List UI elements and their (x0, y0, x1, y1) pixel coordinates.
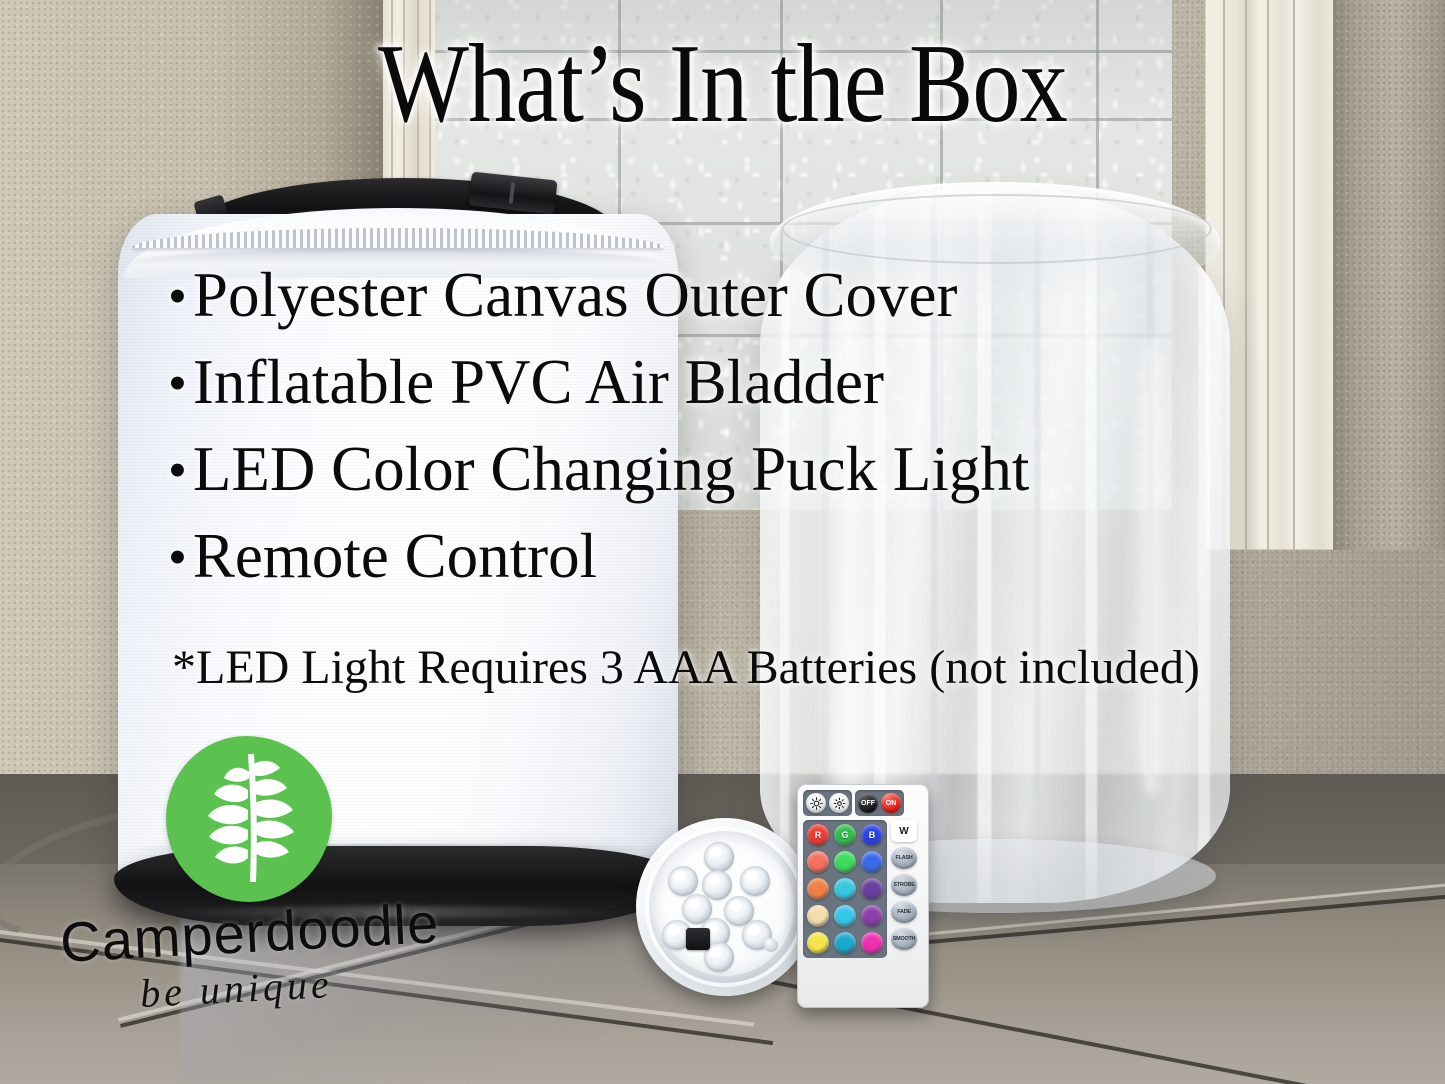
puck-face (656, 838, 794, 976)
list-item: Polyester Canvas Outer Cover (168, 252, 1208, 339)
fern-leaf-icon (166, 736, 332, 902)
brand-logo-mark (166, 736, 332, 902)
color-button[interactable] (807, 878, 829, 900)
stucco-wall-right (1333, 0, 1445, 550)
color-button[interactable] (834, 932, 856, 954)
color-button[interactable] (834, 878, 856, 900)
fade-button[interactable]: FADE (891, 901, 917, 923)
color-button[interactable] (834, 905, 856, 927)
ir-receiver-icon (686, 928, 710, 950)
power-on-button[interactable]: ON (881, 793, 901, 813)
list-item: LED Color Changing Puck Light (168, 426, 1208, 513)
remote-top-row: OFF ON (803, 790, 923, 816)
battery-footnote: *LED Light Requires 3 AAA Batteries (not… (172, 640, 1232, 695)
list-item: Remote Control (168, 513, 1208, 600)
color-button[interactable] (834, 851, 856, 873)
color-button[interactable] (861, 851, 883, 873)
white-button[interactable]: W (891, 820, 917, 842)
color-button[interactable] (807, 905, 829, 927)
color-button-g[interactable]: G (834, 824, 856, 846)
remote-brightness-pad (803, 790, 852, 816)
color-button-r[interactable]: R (807, 824, 829, 846)
brightness-down-icon[interactable] (829, 793, 849, 813)
smooth-button[interactable]: SMOOTH (891, 928, 917, 950)
product-hero-image: OFF ON R G B (0, 0, 1445, 1084)
color-button[interactable] (807, 932, 829, 954)
whats-in-the-box-list: Polyester Canvas Outer Cover Inflatable … (168, 252, 1208, 600)
color-button[interactable] (807, 851, 829, 873)
color-button[interactable] (861, 932, 883, 954)
remote-color-pad: R G B (803, 820, 887, 958)
remote-color-grid: R G B (807, 824, 883, 954)
power-off-button[interactable]: OFF (858, 793, 878, 813)
ir-remote-control[interactable]: OFF ON R G B (797, 784, 929, 1008)
color-button-b[interactable]: B (861, 824, 883, 846)
led-diode (704, 842, 734, 872)
led-diode (740, 866, 770, 896)
brand-tagline: be unique (139, 960, 334, 1017)
color-button[interactable] (861, 878, 883, 900)
brightness-up-icon[interactable] (806, 793, 826, 813)
remote-power-pad: OFF ON (855, 790, 904, 816)
led-diode (702, 870, 732, 900)
puck-sensor-knob (764, 938, 778, 952)
remote-main-area: R G B W (803, 820, 923, 958)
flash-button[interactable]: FLASH (891, 847, 917, 869)
led-diode (668, 866, 698, 896)
remote-mode-column: W FLASH STROBE FADE SMOOTH (891, 820, 917, 958)
strobe-button[interactable]: STROBE (891, 874, 917, 896)
list-item: Inflatable PVC Air Bladder (168, 339, 1208, 426)
page-title: What’s In the Box (101, 28, 1344, 140)
color-button[interactable] (861, 905, 883, 927)
led-puck-light (636, 818, 814, 996)
